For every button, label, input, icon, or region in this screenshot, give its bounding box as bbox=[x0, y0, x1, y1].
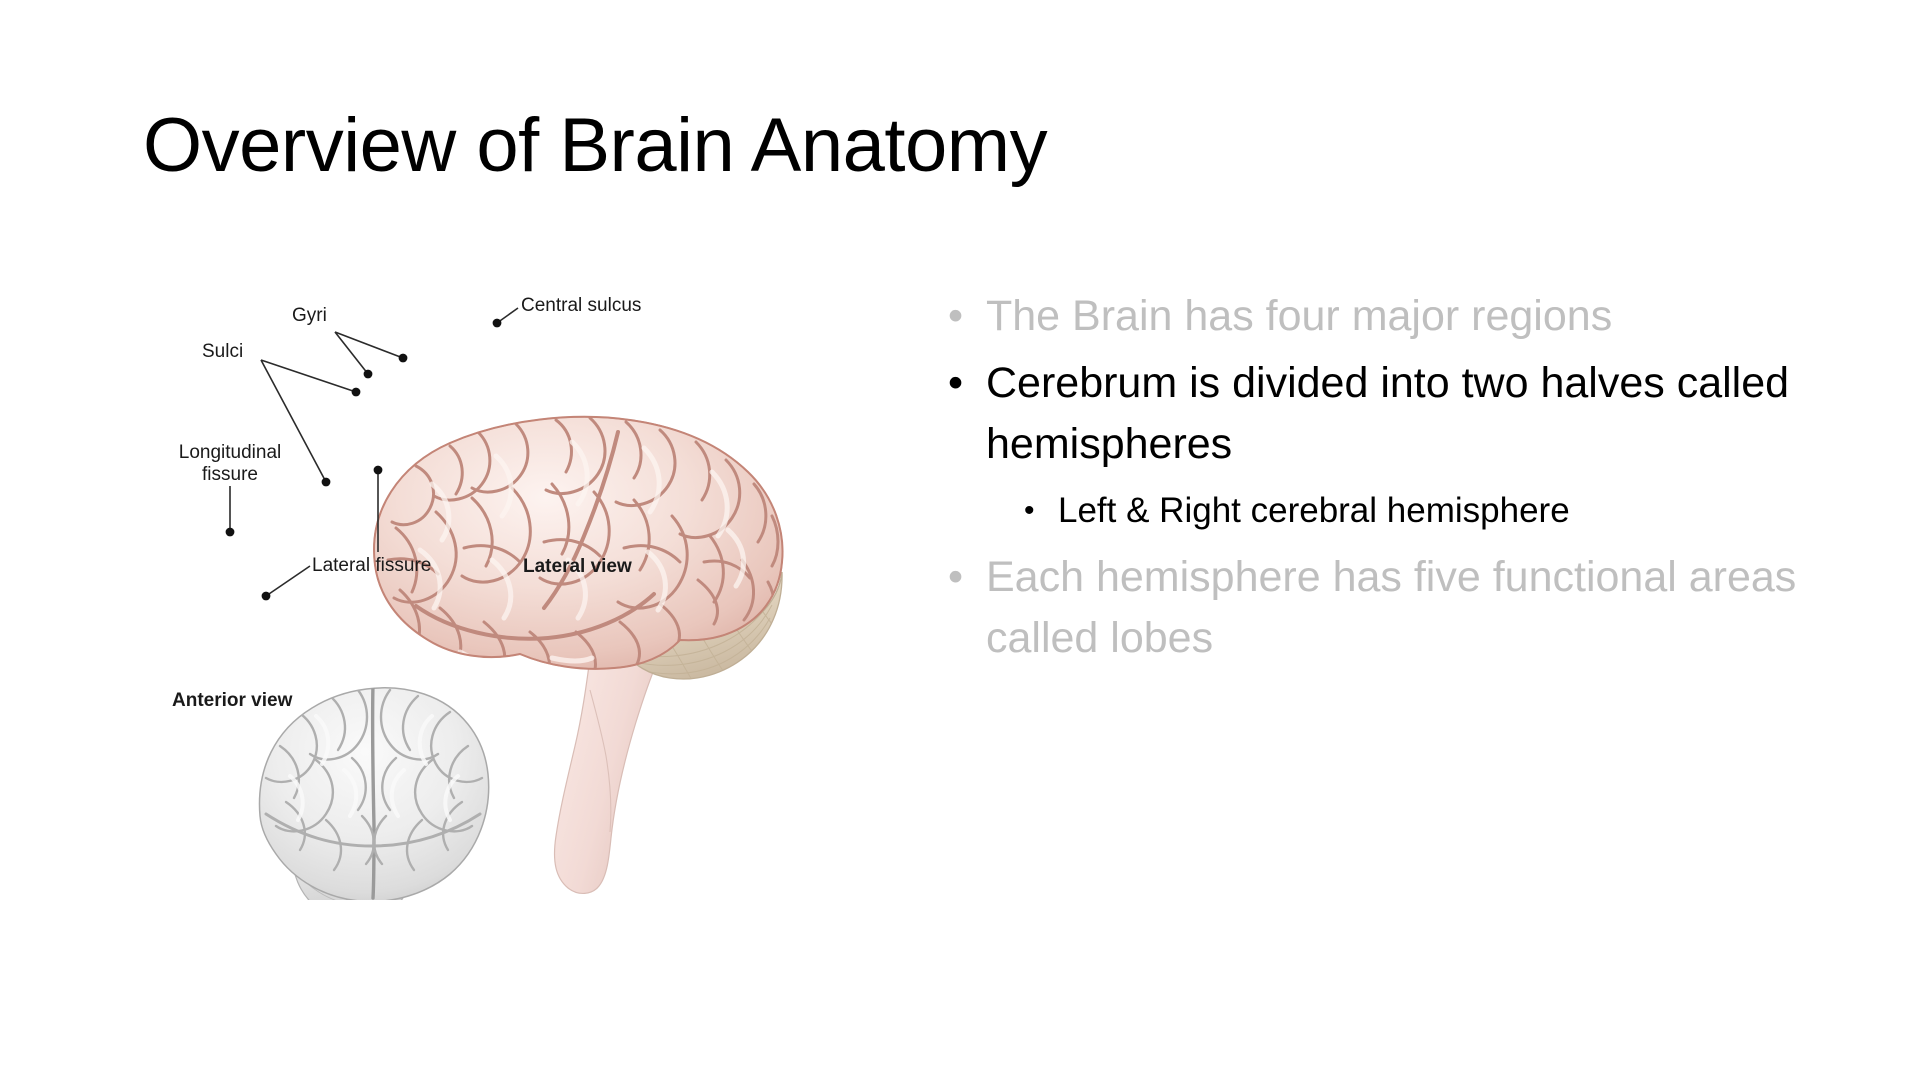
bullet-marker: • bbox=[948, 286, 963, 347]
label-longitudinal-fissure-line1: Longitudinal bbox=[179, 442, 281, 463]
dot-central-sulcus bbox=[493, 319, 502, 328]
dot-longitudinal-fissure bbox=[226, 528, 235, 537]
bullet-item-4: • Each hemisphere has five functional ar… bbox=[940, 547, 1820, 669]
bullet-text: Each hemisphere has five functional area… bbox=[986, 553, 1796, 662]
slide-canvas: Overview of Brain Anatomy bbox=[0, 0, 1920, 1080]
page-title: Overview of Brain Anatomy bbox=[143, 104, 1643, 188]
dot-gyri-2 bbox=[364, 370, 373, 379]
bullet-marker: • bbox=[948, 547, 963, 608]
dot-sulci-1 bbox=[352, 388, 361, 397]
label-lateral-fissure: Lateral fissure bbox=[312, 554, 431, 577]
bullet-text: Cerebrum is divided into two halves call… bbox=[986, 359, 1789, 468]
label-longitudinal-fissure-line2: fissure bbox=[202, 464, 258, 485]
brain-anatomy-figure: Gyri Sulci Central sulcus Longitudinal f… bbox=[120, 260, 920, 900]
bullet-item-1: • The Brain has four major regions bbox=[940, 286, 1820, 347]
bullet-marker: • bbox=[948, 353, 963, 414]
bullet-text: The Brain has four major regions bbox=[986, 292, 1612, 340]
label-gyri: Gyri bbox=[292, 304, 327, 327]
dot-sulci-2 bbox=[322, 478, 331, 487]
bullet-text: Left & Right cerebral hemisphere bbox=[1058, 491, 1570, 530]
label-longitudinal-fissure: Longitudinal fissure bbox=[175, 442, 285, 486]
caption-lateral-view: Lateral view bbox=[523, 555, 632, 578]
anterior-view-brain bbox=[259, 684, 488, 900]
bullet-item-2: • Cerebrum is divided into two halves ca… bbox=[940, 353, 1820, 475]
dot-lateral-fissure-1 bbox=[374, 466, 383, 475]
bullet-item-3: • Left & Right cerebral hemisphere bbox=[940, 485, 1820, 537]
dot-lateral-fissure-2 bbox=[262, 592, 271, 601]
label-sulci: Sulci bbox=[202, 340, 243, 363]
dot-gyri-1 bbox=[399, 354, 408, 363]
caption-anterior-view: Anterior view bbox=[172, 689, 292, 712]
content-placeholder[interactable]: • The Brain has four major regions • Cer… bbox=[940, 286, 1820, 675]
bullet-marker: • bbox=[1024, 485, 1035, 537]
label-central-sulcus: Central sulcus bbox=[521, 294, 641, 317]
